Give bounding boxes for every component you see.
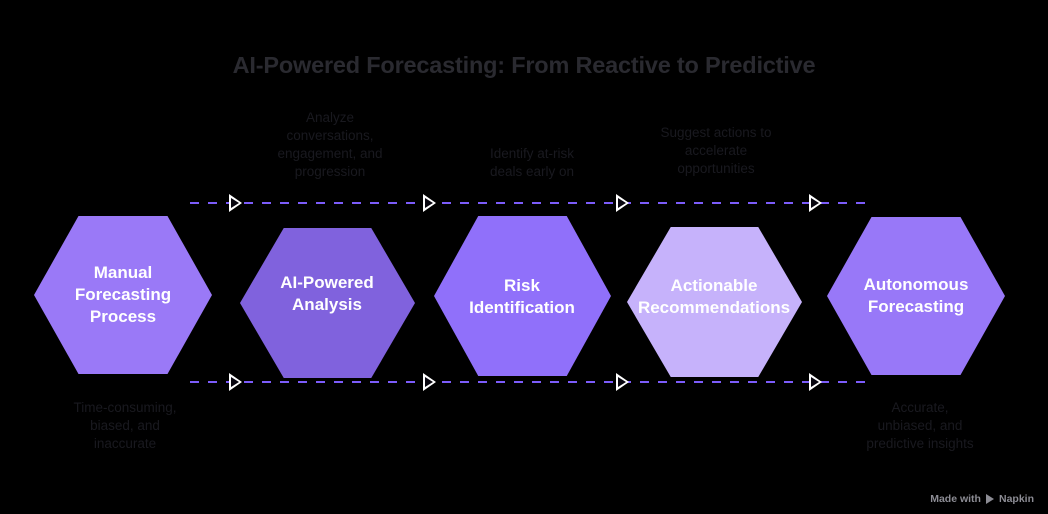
caption-top-risk-identification: Identify at-risk deals early on xyxy=(452,145,612,181)
hexagon-ai-powered-analysis[interactable] xyxy=(240,228,415,378)
hexagon-actionable-recommendations[interactable] xyxy=(627,227,802,377)
flow-arrow-top-2 xyxy=(423,194,436,212)
flow-rail-top xyxy=(190,202,865,204)
napkin-watermark: Made with Napkin xyxy=(930,493,1034,505)
caption-bottom-manual-forecasting-process: Time-consuming, biased, and inaccurate xyxy=(40,399,210,453)
caption-bottom-autonomous-forecasting: Accurate, unbiased, and predictive insig… xyxy=(830,399,1010,453)
flow-arrow-bottom-2 xyxy=(423,373,436,391)
flow-arrow-bottom-4 xyxy=(809,373,822,391)
caption-top-actionable-recommendations: Suggest actions to accelerate opportunit… xyxy=(627,124,805,178)
flow-arrow-top-3 xyxy=(616,194,629,212)
hexagon-autonomous-forecasting[interactable] xyxy=(827,217,1005,375)
play-triangle-icon xyxy=(986,494,994,504)
flow-arrow-top-1 xyxy=(229,194,242,212)
hexagon-risk-identification[interactable] xyxy=(434,216,611,376)
caption-top-ai-powered-analysis: Analyze conversations, engagement, and p… xyxy=(250,109,410,181)
hexagon-manual-forecasting-process[interactable] xyxy=(34,216,212,374)
flow-arrow-top-4 xyxy=(809,194,822,212)
flow-arrow-bottom-1 xyxy=(229,373,242,391)
flow-rail-bottom xyxy=(190,381,865,383)
watermark-made-with-label: Made with xyxy=(930,493,981,505)
watermark-brand-label: Napkin xyxy=(999,493,1034,505)
diagram-canvas: AI-Powered Forecasting: From Reactive to… xyxy=(0,0,1048,514)
flow-arrow-bottom-3 xyxy=(616,373,629,391)
page-title: AI-Powered Forecasting: From Reactive to… xyxy=(0,52,1048,79)
